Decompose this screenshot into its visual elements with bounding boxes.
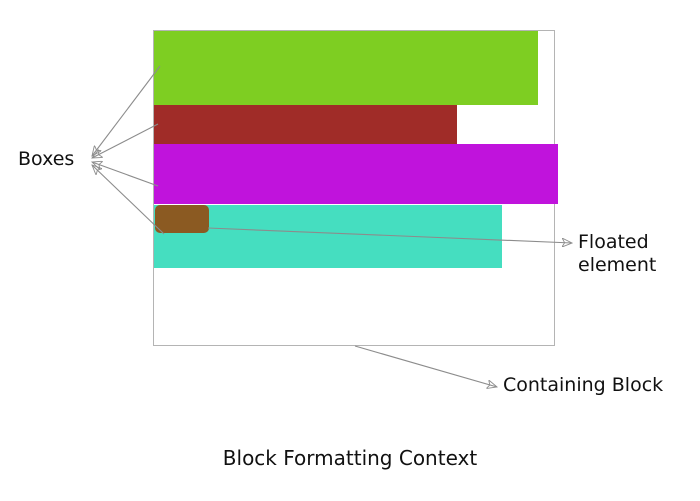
diagram-caption: Block Formatting Context <box>0 446 700 470</box>
dark-red-block-box <box>154 105 457 144</box>
connector-boxes-to-magenta <box>92 162 158 186</box>
green-block-box <box>154 31 538 105</box>
connector-boxes-to-dark-red <box>92 124 158 158</box>
boxes-label: Boxes <box>18 148 74 171</box>
block-formatting-context-diagram: Boxes Floated element Containing Block B… <box>0 0 700 501</box>
connector-boxes-to-green <box>92 66 160 156</box>
containing-block-label: Containing Block <box>503 374 663 397</box>
brown-floated-box <box>155 205 209 233</box>
magenta-block-box <box>154 144 558 204</box>
connector-containing-block <box>355 346 497 387</box>
floated-element-label: Floated element <box>578 231 688 277</box>
